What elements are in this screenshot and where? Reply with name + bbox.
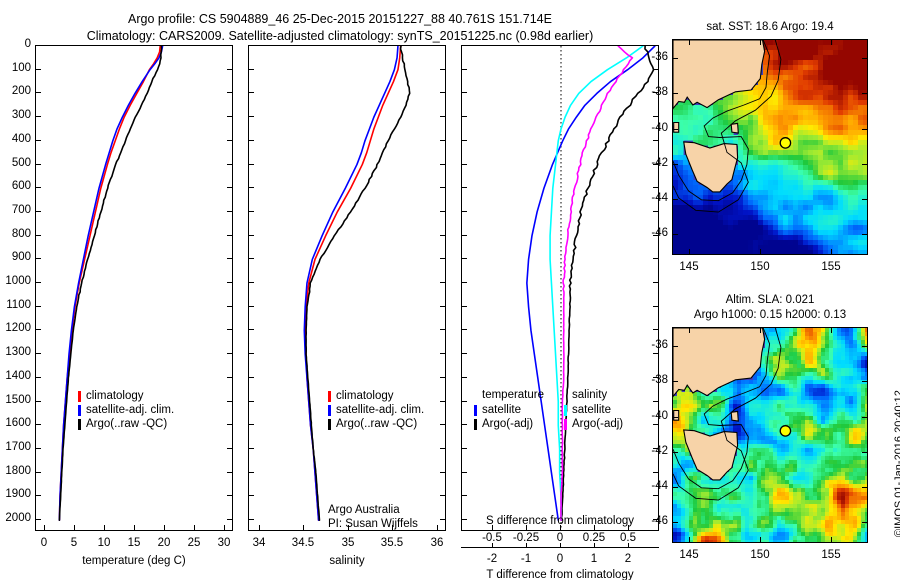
axis-tick [440,211,445,212]
sst-map-title: sat. SST: 18.6 Argo: 19.4 [672,20,868,35]
axis-tick [462,92,467,93]
axis-tick [227,69,232,70]
axis-tick [249,92,254,93]
axis-tick [673,129,678,130]
salinity-axis-title: salinity [248,555,446,567]
legend-color-swatch [564,405,567,416]
axis-tick [249,495,254,496]
depth-tick-label: 1900 [5,488,31,500]
axis-tick-label: 15 [128,537,141,549]
axis-tick [440,45,445,46]
axis-tick [862,164,867,165]
legend-color-swatch [328,419,331,430]
landmass [674,411,679,421]
axis-tick [673,452,678,453]
legend-color-swatch [328,405,331,416]
axis-tick [194,525,195,530]
latitude-tick-label: -46 [651,515,668,527]
axis-tick [392,525,393,530]
axis-tick [36,448,41,449]
salinity-curves [249,46,446,531]
axis-tick [462,187,467,188]
axis-tick [653,116,658,117]
axis-tick [249,306,254,307]
longitude-tick-label: 150 [750,261,769,273]
credit-line1: Argo Australia [328,503,418,517]
axis-tick [227,235,232,236]
depth-tick-label: 500 [12,157,31,169]
axis-tick [227,282,232,283]
axis-tick [249,329,254,330]
axis-tick [689,40,690,45]
axis-tick [227,329,232,330]
profile-curve [304,46,398,520]
axis-tick [249,258,254,259]
axis-tick [673,93,678,94]
axis-tick [249,45,254,46]
axis-tick [462,164,467,165]
legend-color-swatch [78,405,81,416]
latitude-tick-label: -36 [651,51,668,63]
axis-tick [628,525,629,530]
axis-tick [862,417,867,418]
axis-tick [440,519,445,520]
latitude-tick-label: -44 [651,480,668,492]
axis-tick [249,519,254,520]
axis-tick [36,282,41,283]
axis-tick-label: 30 [218,537,231,549]
axis-tick [462,329,467,330]
legend-color-swatch [78,419,81,430]
depth-tick-label: 0 [25,38,31,50]
longitude-tick-label: 155 [821,549,840,561]
axis-tick [440,258,445,259]
legend-entry: satellite [564,403,623,417]
axis-tick [760,537,761,542]
legend-color-swatch [328,391,331,402]
axis-tick [227,258,232,259]
axis-tick-label: 0 [557,532,563,544]
axis-tick [462,424,467,425]
latitude-tick-label: -42 [651,445,668,457]
figure-title-line2: Climatology: CARS2009. Satellite-adjuste… [0,28,680,45]
axis-tick [462,235,467,236]
depth-tick-label: 1700 [5,441,31,453]
axis-tick [462,282,467,283]
axis-tick [224,525,225,530]
legend-color-swatch [474,405,477,416]
axis-tick [440,495,445,496]
axis-tick [831,249,832,254]
axis-tick [440,329,445,330]
axis-tick [36,45,41,46]
axis-tick-label: -1 [521,553,531,565]
float-position-marker[interactable] [780,138,790,148]
axis-tick [653,187,658,188]
landmass [731,123,738,133]
axis-tick [249,140,254,141]
axis-tick [440,140,445,141]
axis-tick [227,519,232,520]
axis-tick [36,258,41,259]
depth-tick-label: 300 [12,109,31,121]
axis-tick [36,116,41,117]
axis-tick [653,282,658,283]
axis-tick [492,525,493,530]
legend-group-header: salinity [564,389,623,403]
axis-tick [440,187,445,188]
profile-curve [305,46,400,520]
axis-tick [249,282,254,283]
axis-tick [673,346,678,347]
axis-tick [862,487,867,488]
depth-tick-label: 1200 [5,322,31,334]
axis-tick [462,519,467,520]
sla-map-title-line2: Argo h1000: 0.15 h2000: 0.13 [672,308,868,323]
sst-map-field [673,40,868,255]
axis-tick [462,45,467,46]
axis-tick [303,525,304,530]
axis-tick [653,211,658,212]
figure-title: Argo profile: CS 5904889_46 25-Dec-2015 … [0,11,680,45]
axis-tick [673,234,678,235]
axis-tick [249,448,254,449]
axis-tick [462,401,467,402]
axis-tick [227,353,232,354]
axis-tick [462,140,467,141]
axis-tick [249,187,254,188]
axis-tick-label: -0.25 [513,532,539,544]
axis-tick-label: 5 [71,537,77,549]
axis-tick [440,235,445,236]
temperature-curves [36,46,233,531]
depth-tick-label: 2000 [5,512,31,524]
axis-tick [673,164,678,165]
latitude-tick-label: -42 [651,157,668,169]
axis-tick-label: 34 [253,537,266,549]
axis-tick [249,69,254,70]
axis-tick [74,525,75,530]
axis-tick [440,448,445,449]
axis-tick [36,92,41,93]
depth-tick-label: 200 [12,85,31,97]
axis-tick [689,249,690,254]
axis-tick [36,519,41,520]
axis-tick [227,164,232,165]
axis-tick [862,522,867,523]
axis-tick [36,187,41,188]
profile-curve [59,46,161,520]
latitude-tick-label: -40 [651,410,668,422]
axis-tick [227,116,232,117]
depth-tick-label: 100 [12,62,31,74]
legend-group-header: temperature [474,389,544,403]
axis-tick [462,116,467,117]
axis-tick-label: 1 [591,553,597,565]
legend-color-swatch [474,419,477,430]
landmass [731,411,738,421]
sla-map[interactable] [672,327,868,543]
axis-tick [227,187,232,188]
legend-label: Argo(..raw -QC) [86,417,167,431]
figure-title-line1: Argo profile: CS 5904889_46 25-Dec-2015 … [0,11,680,28]
axis-tick [249,401,254,402]
axis-tick [462,306,467,307]
axis-tick [36,69,41,70]
axis-tick [227,92,232,93]
landmass [674,123,679,133]
profile-curve [306,46,410,520]
difference-legend-temperature: temperaturesatelliteArgo(-adj) [474,389,544,431]
sla-map-title-line1: Altim. SLA: 0.021 [672,293,868,308]
longitude-tick-label: 145 [679,261,698,273]
axis-tick-label: 20 [158,537,171,549]
axis-tick [862,129,867,130]
axis-tick [348,525,349,530]
axis-tick [249,211,254,212]
axis-tick [760,328,761,333]
legend-label: satellite [482,403,521,417]
temperature-axis-title: temperature (deg C) [35,555,233,567]
axis-tick-label: 0 [41,537,47,549]
axis-tick [227,140,232,141]
salinity-plot-area [248,45,446,531]
depth-tick-label: 400 [12,133,31,145]
axis-tick [249,472,254,473]
axis-tick [440,424,445,425]
axis-tick [653,424,658,425]
latitude-tick-label: -38 [651,86,668,98]
axis-tick [653,495,658,496]
axis-tick [227,377,232,378]
axis-tick [249,116,254,117]
axis-tick [227,306,232,307]
longitude-tick-label: 145 [679,549,698,561]
axis-tick [862,58,867,59]
depth-tick-label: 600 [12,180,31,192]
depth-tick-label: 1500 [5,394,31,406]
legend-entry: Argo(-adj) [474,417,544,431]
axis-tick [462,472,467,473]
depth-tick-label: 1600 [5,417,31,429]
axis-tick [462,211,467,212]
axis-tick-label: -2 [487,553,497,565]
axis-tick [831,537,832,542]
axis-tick [36,140,41,141]
axis-tick [36,377,41,378]
temperature-legend: climatologysatellite-adj. clim.Argo(..ra… [78,389,174,431]
axis-tick [673,417,678,418]
axis-tick-label: 0 [557,553,563,565]
axis-tick-label: 0.25 [583,532,605,544]
axis-tick [653,69,658,70]
legend-label: Argo(..raw -QC) [336,417,417,431]
difference-plot-area [461,45,659,531]
axis-tick [831,328,832,333]
axis-tick [440,69,445,70]
axis-tick [36,235,41,236]
axis-tick [673,199,678,200]
axis-tick [249,235,254,236]
legend-entry: satellite [474,403,544,417]
axis-tick [249,353,254,354]
imos-credit: ©IMOS 01-Jan-2016 20:40:12 [893,390,900,537]
axis-tick-label: -0.5 [482,532,502,544]
difference-axis-title-temperature: T difference from climatology [461,569,659,580]
depth-tick-label: 1100 [6,299,31,311]
axis-tick [653,329,658,330]
legend-entry: Argo(-adj) [564,417,623,431]
axis-tick-label: 2 [625,553,631,565]
argo-australia-credit: Argo Australia PI: Susan Wijffels [328,503,418,531]
axis-tick [164,525,165,530]
legend-label: satellite-adj. clim. [86,403,174,417]
axis-tick [689,537,690,542]
axis-tick [673,58,678,59]
latitude-tick-label: -38 [651,374,668,386]
axis-tick [227,401,232,402]
legend-entry: Argo(..raw -QC) [328,417,424,431]
depth-tick-label: 900 [12,251,31,263]
axis-tick [462,495,467,496]
axis-tick [653,45,658,46]
axis-tick [36,472,41,473]
latitude-tick-label: -44 [651,192,668,204]
axis-tick [673,487,678,488]
credit-line2: PI: Susan Wijffels [328,517,418,531]
axis-tick [259,525,260,530]
axis-tick [760,249,761,254]
axis-tick-label: 35.5 [381,537,403,549]
axis-tick [862,199,867,200]
axis-tick [227,472,232,473]
legend-entry: satellite-adj. clim. [78,403,174,417]
axis-tick [653,401,658,402]
axis-tick [440,353,445,354]
axis-tick [440,164,445,165]
axis-tick [594,525,595,530]
axis-tick [862,93,867,94]
axis-tick [673,522,678,523]
sst-map[interactable] [672,39,868,255]
axis-tick [440,282,445,283]
axis-tick [462,353,467,354]
axis-tick [462,69,467,70]
axis-tick [760,40,761,45]
axis-tick [440,306,445,307]
profile-curve [59,46,160,520]
legend-entry: climatology [78,389,174,403]
axis-tick [227,448,232,449]
axis-tick [440,401,445,402]
axis-tick-label: 34.5 [292,537,314,549]
profile-curve [527,46,655,520]
axis-tick [104,525,105,530]
depth-tick-label: 1300 [5,346,31,358]
temperature-plot-area [35,45,233,531]
depth-tick-label: 700 [12,204,31,216]
axis-tick [440,116,445,117]
legend-label: climatology [336,389,394,403]
legend-color-swatch [564,419,567,430]
depth-tick-label: 1400 [5,370,31,382]
axis-tick [440,92,445,93]
latitude-tick-label: -36 [651,339,668,351]
axis-tick [437,525,438,530]
longitude-tick-label: 155 [821,261,840,273]
legend-label: satellite [572,403,611,417]
axis-tick [227,45,232,46]
axis-tick [36,329,41,330]
axis-tick [653,140,658,141]
legend-label: Argo(-adj) [572,417,623,431]
axis-tick-label: 36 [431,537,444,549]
axis-tick [653,353,658,354]
axis-tick [653,306,658,307]
legend-color-swatch [78,391,81,402]
axis-tick-label: 10 [98,537,111,549]
axis-tick [36,211,41,212]
axis-tick [440,472,445,473]
axis-tick [653,472,658,473]
axis-tick [249,377,254,378]
axis-tick [560,525,561,530]
sla-map-title: Altim. SLA: 0.021 Argo h1000: 0.15 h2000… [672,293,868,323]
depth-tick-label: 800 [12,228,31,240]
axis-tick [862,234,867,235]
difference-curves [462,46,659,531]
latitude-tick-label: -46 [651,227,668,239]
legend-label: Argo(-adj) [482,417,533,431]
axis-tick [44,525,45,530]
axis-tick [862,346,867,347]
legend-entry: Argo(..raw -QC) [78,417,174,431]
axis-tick [462,377,467,378]
axis-tick [36,164,41,165]
axis-tick [831,40,832,45]
axis-tick [526,525,527,530]
axis-tick [673,381,678,382]
float-position-marker[interactable] [780,426,790,436]
legend-entry: climatology [328,389,424,403]
axis-tick [249,164,254,165]
axis-tick-label: 25 [188,537,201,549]
figure-canvas: Argo profile: CS 5904889_46 25-Dec-2015 … [0,0,900,580]
axis-tick-label: 0.5 [620,532,636,544]
depth-tick-label: 1800 [5,465,31,477]
axis-tick [36,353,41,354]
sla-map-field [673,328,868,543]
depth-tick-label: 1000 [5,275,31,287]
longitude-tick-label: 150 [750,549,769,561]
latitude-tick-label: -40 [651,122,668,134]
legend-label: climatology [86,389,144,403]
axis-tick-label: 35 [342,537,355,549]
axis-tick [462,258,467,259]
axis-tick [862,381,867,382]
axis-tick [462,448,467,449]
axis-tick [862,452,867,453]
axis-tick [36,424,41,425]
profile-curve [59,46,162,520]
profile-curve [562,46,654,520]
axis-tick [440,377,445,378]
axis-tick [249,424,254,425]
difference-legend-salinity: salinitysatelliteArgo(-adj) [564,389,623,431]
legend-label: satellite-adj. clim. [336,403,424,417]
axis-tick [227,424,232,425]
axis-tick [227,495,232,496]
